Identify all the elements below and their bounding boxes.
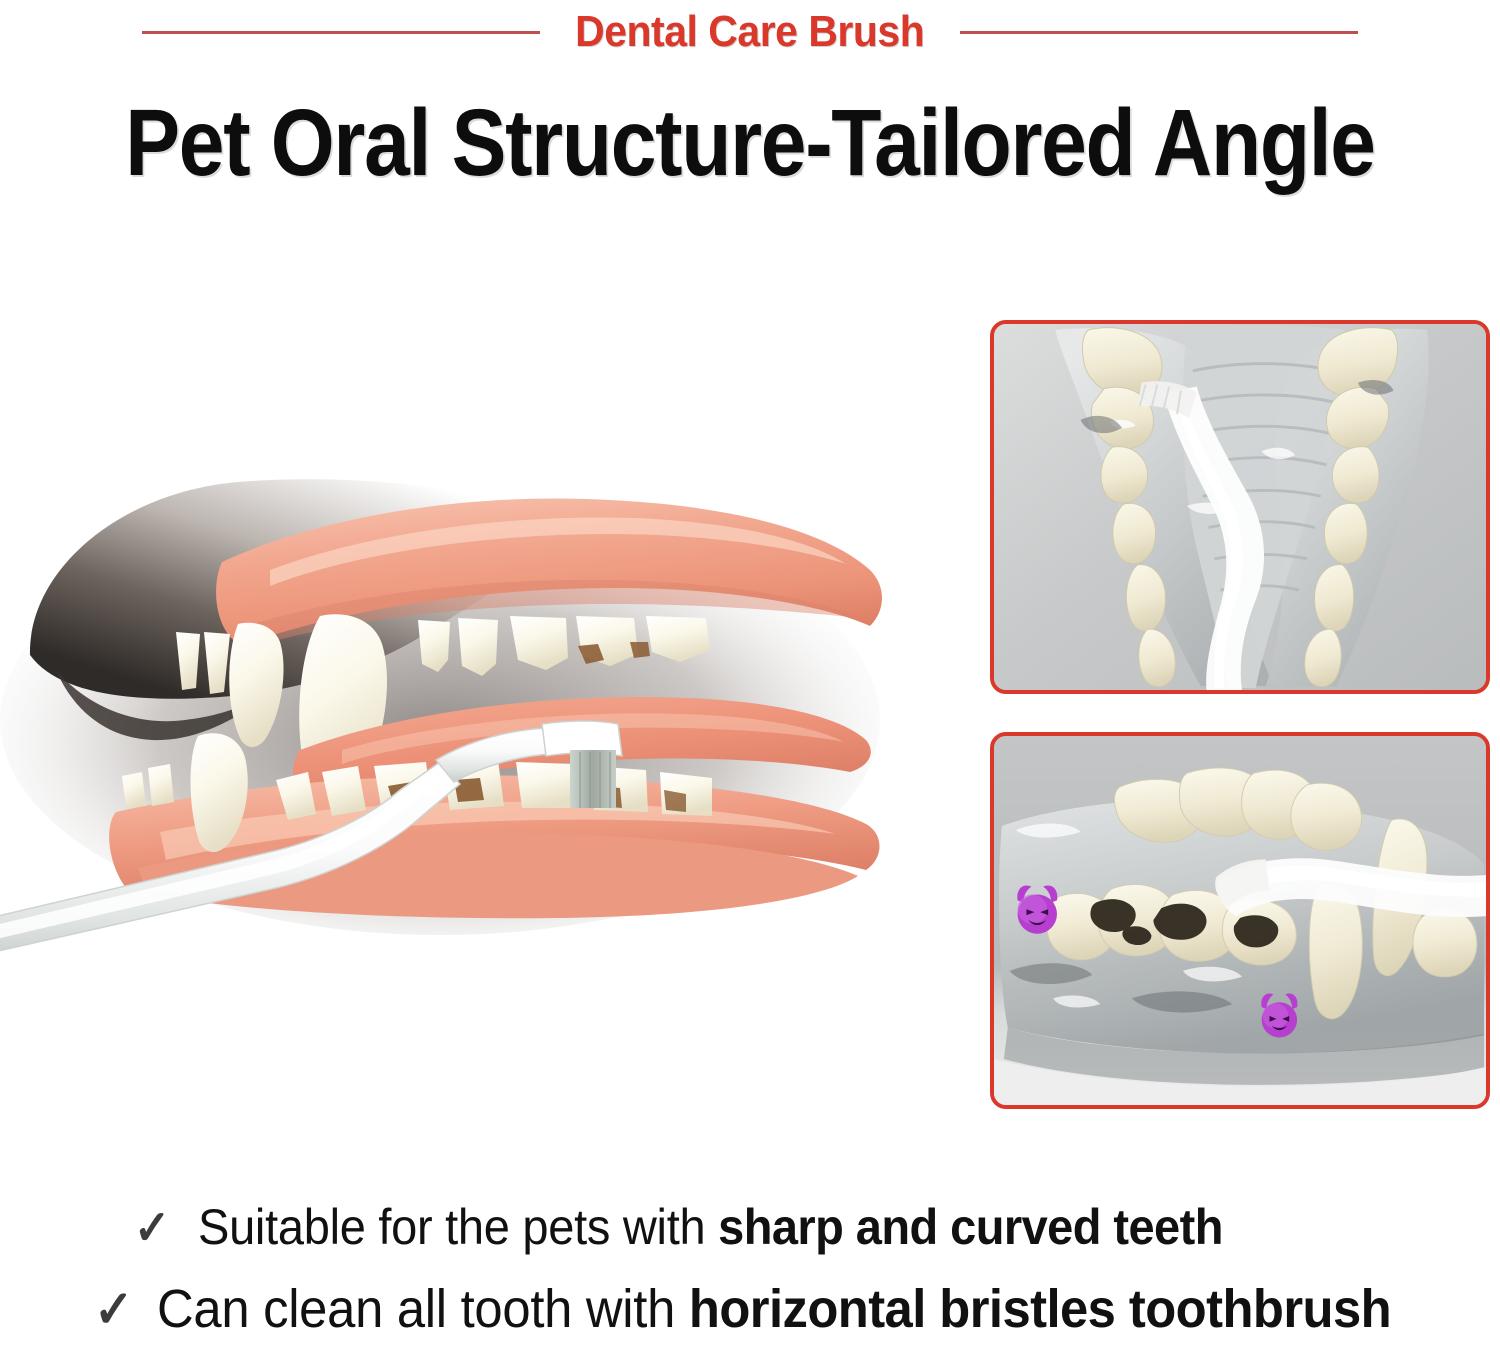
feature-bullet-1-text: Suitable for the pets with sharp and cur… xyxy=(198,1198,1223,1256)
kicker-rule-left xyxy=(142,31,540,34)
tooth-molar-photo-back xyxy=(1413,910,1477,977)
feature-bullet-2-text: Can clean all tooth with horizontal bris… xyxy=(157,1278,1391,1340)
page-title: Pet Oral Structure-Tailored Angle xyxy=(101,95,1399,192)
upper-jaw-photo-canvas xyxy=(994,324,1486,690)
kicker-row: Dental Care Brush xyxy=(0,0,1500,64)
bullet-2-lead: Can clean all tooth with xyxy=(157,1279,689,1339)
kicker-rule-right xyxy=(960,31,1358,34)
illustration-canvas xyxy=(0,420,950,980)
check-icon: ✓ xyxy=(94,1284,133,1336)
upper-jaw-model-photo xyxy=(990,320,1490,694)
devil-face-shade xyxy=(1018,895,1048,924)
dog-mouth-toothbrush-illustration xyxy=(0,420,950,980)
tooth-incisor-l2 xyxy=(148,764,174,806)
kicker-label: Dental Care Brush xyxy=(575,10,924,54)
side-jaw-model-photo xyxy=(990,732,1490,1109)
bullet-2-emphasis: horizontal bristles toothbrush xyxy=(689,1279,1391,1339)
check-icon: ✓ xyxy=(134,1205,170,1253)
infographic-page: Dental Care Brush Pet Oral Structure-Tai… xyxy=(0,0,1500,1346)
feature-bullet-1: ✓ Suitable for the pets with sharp and c… xyxy=(132,1198,1289,1256)
devil-face-shade xyxy=(1263,1003,1289,1028)
bullet-1-emphasis: sharp and curved teeth xyxy=(718,1199,1223,1255)
tooth-incisor-l1 xyxy=(122,772,146,808)
toothbrush-bristles xyxy=(570,750,616,808)
side-jaw-photo-canvas xyxy=(994,736,1486,1105)
bullet-1-lead: Suitable for the pets with xyxy=(198,1199,718,1255)
tooth-molar-l3 xyxy=(516,762,578,808)
feature-bullet-2: ✓ Can clean all tooth with horizontal br… xyxy=(92,1278,1470,1340)
